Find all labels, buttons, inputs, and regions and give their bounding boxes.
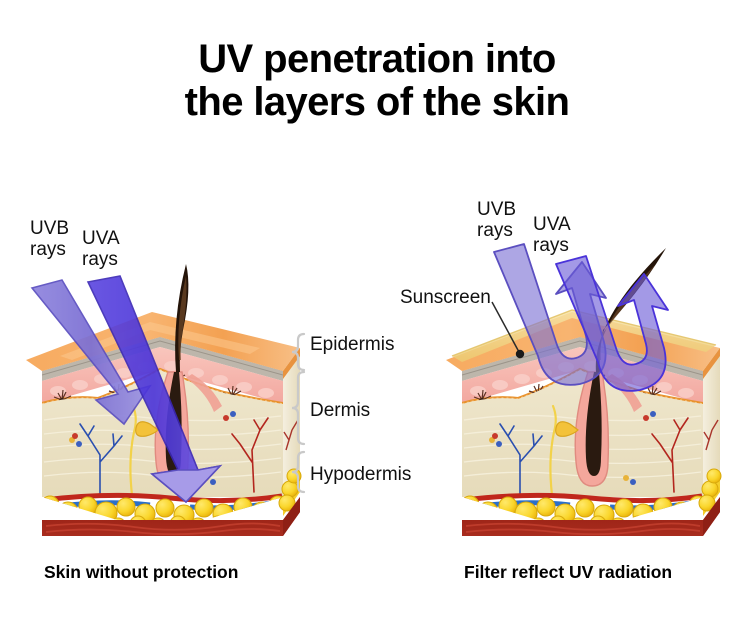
- uvb-rays-label-right: UVB rays: [477, 199, 516, 242]
- layer-label-dermis: Dermis: [310, 400, 370, 422]
- sunscreen-label: Sunscreen: [400, 287, 491, 309]
- layer-label-hypodermis: Hypodermis: [310, 464, 411, 486]
- uva-label-line-1-right: UVA: [533, 214, 571, 235]
- sunscreen-leader-dot: [516, 350, 524, 358]
- scene-svg: [0, 0, 754, 630]
- caption-right-panel: Filter reflect UV radiation: [464, 562, 672, 583]
- uva-label-line-1: UVA: [82, 228, 120, 249]
- uva-label-line-2: rays: [82, 249, 120, 270]
- uva-label-line-2-right: rays: [533, 235, 571, 256]
- uvb-label-line-1: UVB: [30, 218, 69, 239]
- caption-left-panel: Skin without protection: [44, 562, 238, 583]
- uvb-label-line-1-right: UVB: [477, 199, 516, 220]
- illustration-canvas: UV penetration into the layers of the sk…: [0, 0, 754, 630]
- uva-rays-label-right: UVA rays: [533, 214, 571, 257]
- layer-label-epidermis: Epidermis: [310, 334, 394, 356]
- uvb-label-line-2-right: rays: [477, 220, 516, 241]
- uvb-rays-label-left: UVB rays: [30, 218, 69, 261]
- uvb-label-line-2: rays: [30, 239, 69, 260]
- uva-rays-label-left: UVA rays: [82, 228, 120, 271]
